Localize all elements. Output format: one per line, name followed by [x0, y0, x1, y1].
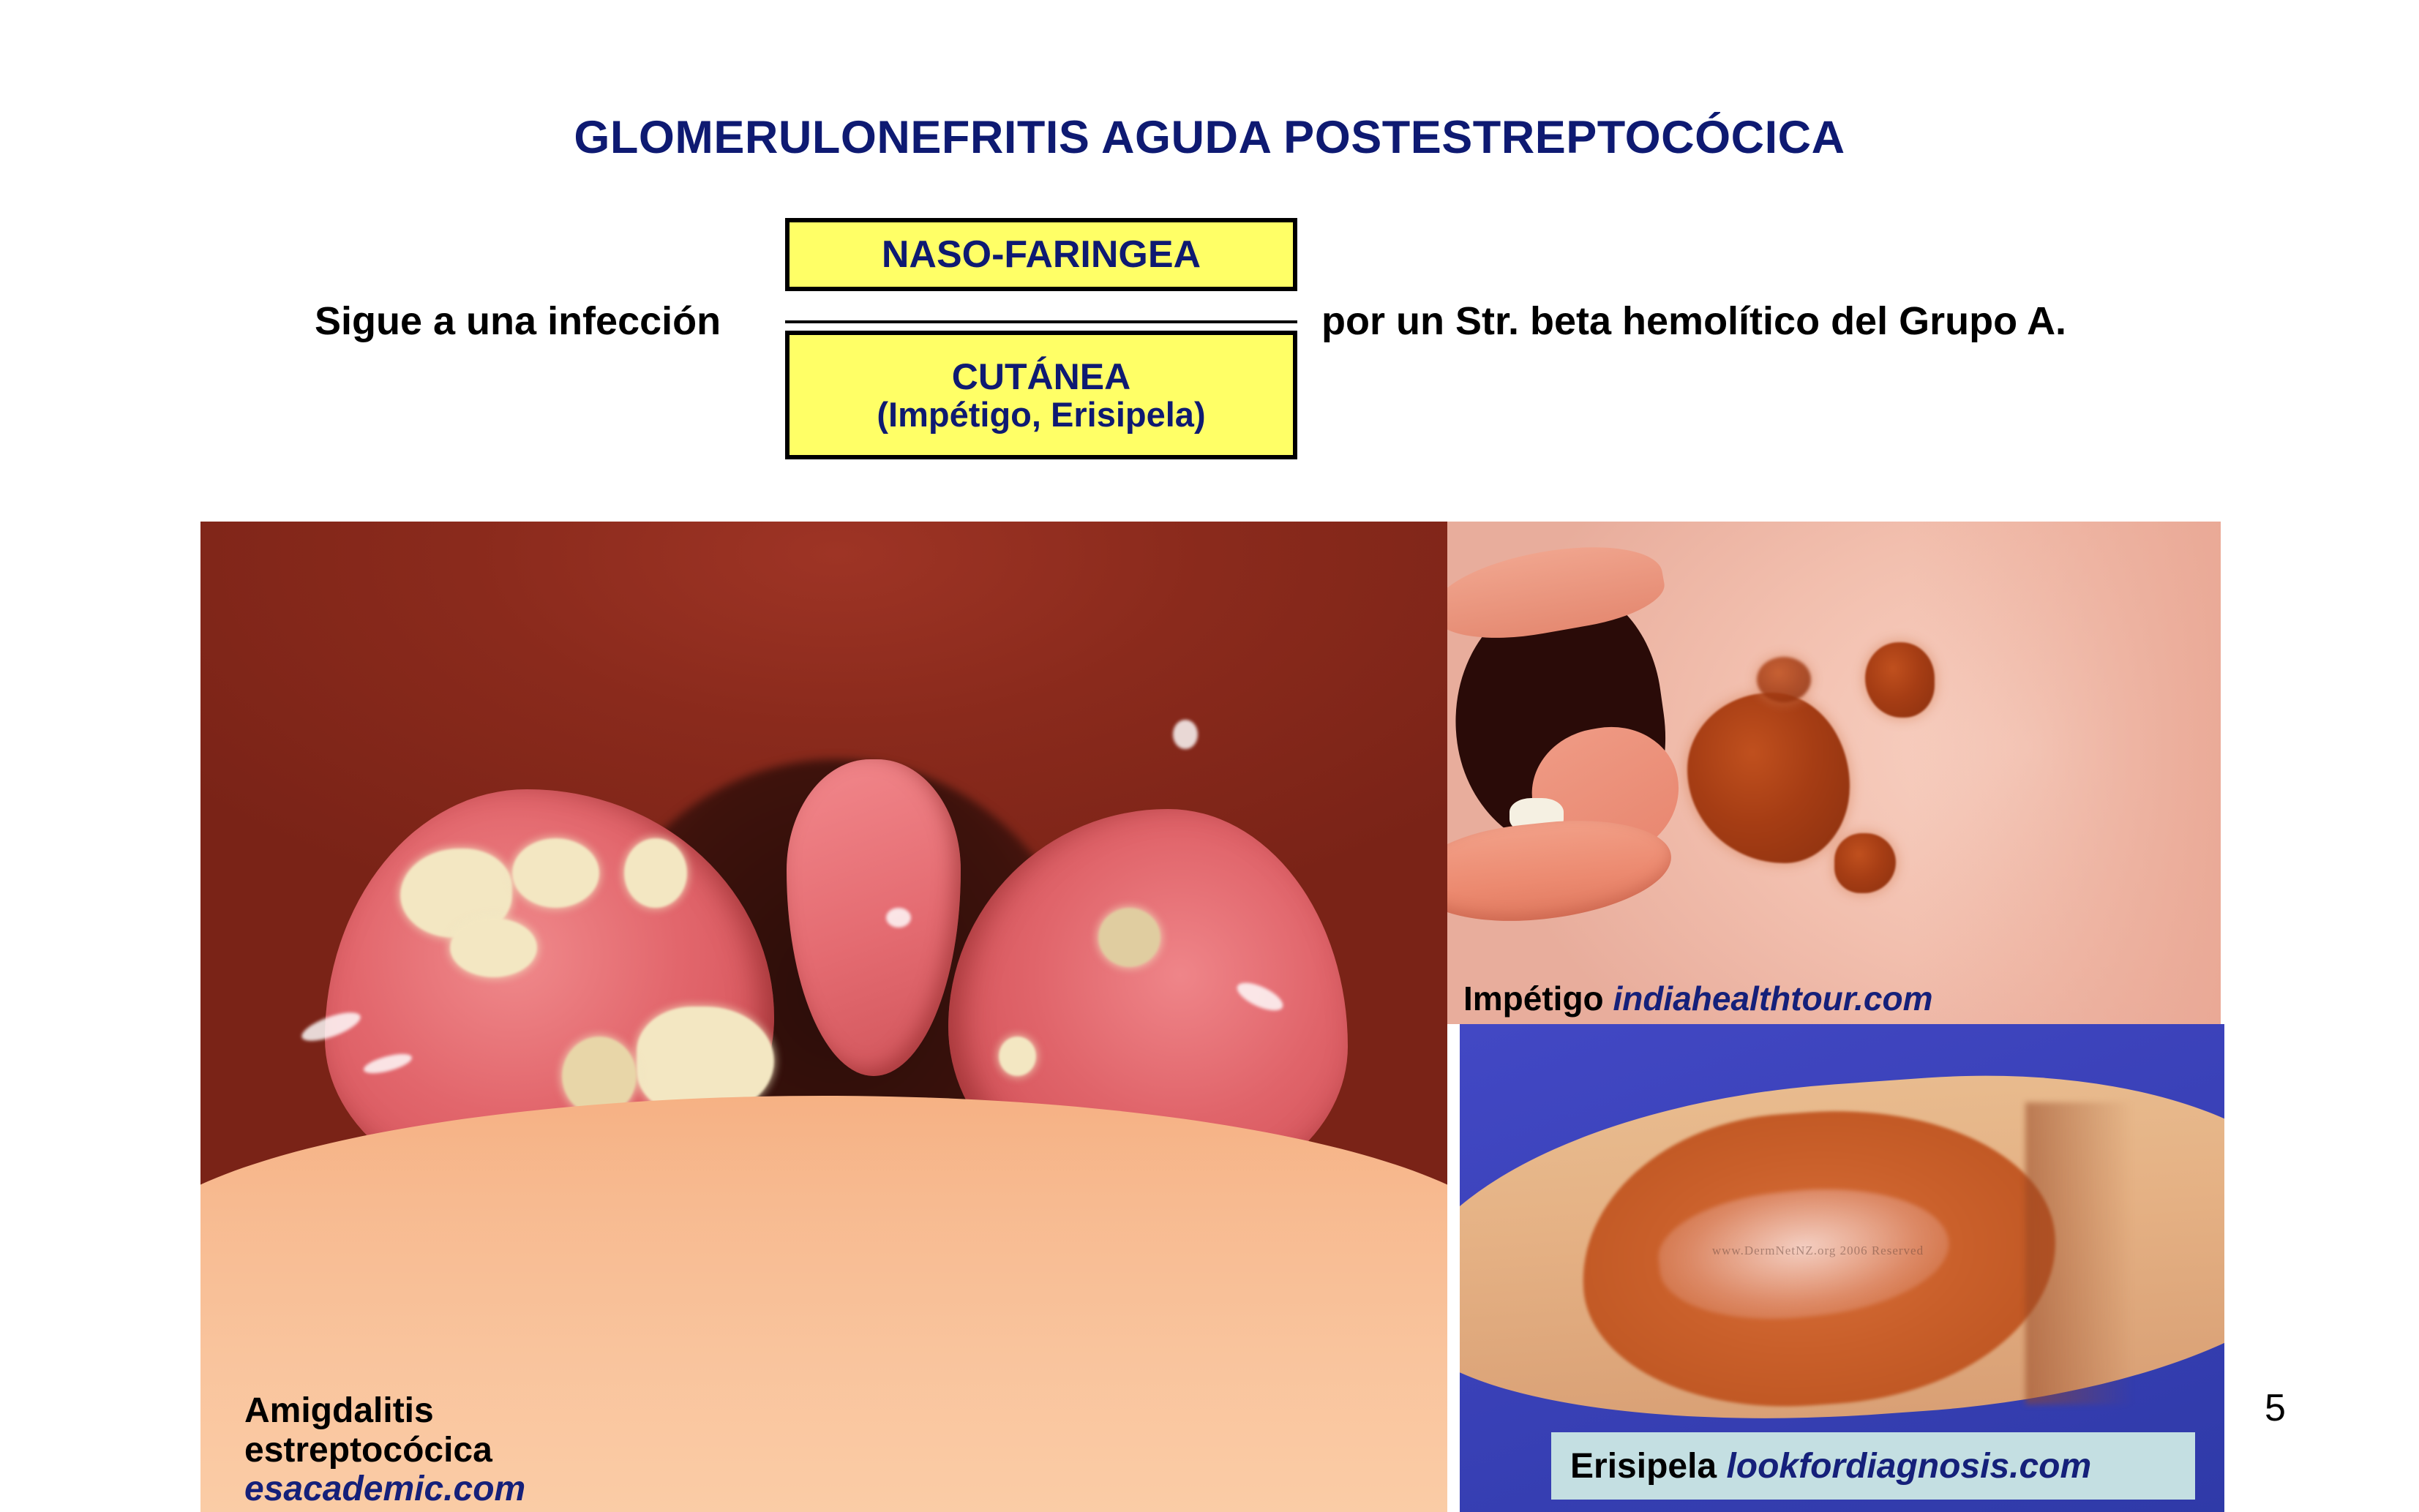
impetigo-crust-lesion	[1757, 657, 1811, 702]
caption-amigdalitis-source: esacademic.com	[244, 1470, 903, 1509]
sentence-lead-text: Sigue a una infección	[315, 298, 721, 344]
impetigo-crust-lesion	[1865, 642, 1935, 718]
bracket-connector-line	[785, 320, 1297, 323]
callout-box-cutanea: CUTÁNEA (Impétigo, Erisipela)	[785, 331, 1297, 459]
callout-box-nasofaringea: NASO-FARINGEA	[785, 218, 1297, 291]
caption-erisipela-label: Erisipela	[1570, 1446, 1717, 1486]
limb-edge-shading	[2025, 1102, 2132, 1405]
tonsil-exudate-patch	[1098, 908, 1160, 967]
caption-amigdalitis: Amigdalitis estreptocócica esacademic.co…	[244, 1391, 903, 1509]
slide-number: 5	[2265, 1386, 2286, 1430]
callout-box-nasofaringea-label: NASO-FARINGEA	[882, 234, 1201, 275]
photo-impetigo: Impétigo indiahealthtour.com	[1447, 522, 2221, 1024]
caption-erisipela-source: lookfordiagnosis.com	[1726, 1446, 2091, 1486]
page-title: GLOMERULONEFRITIS AGUDA POSTESTREPTOCÓCI…	[0, 111, 2419, 164]
photo-watermark: www.DermNetNZ.org 2006 Reserved	[1712, 1244, 1924, 1258]
caption-erisipela: Erisipela lookfordiagnosis.com	[1551, 1432, 2195, 1500]
tonsil-exudate-patch	[450, 918, 537, 977]
tonsil-exudate-patch	[512, 838, 599, 908]
tonsil-exudate-patch	[624, 838, 686, 908]
caption-impetigo-label: Impétigo	[1463, 979, 1613, 1018]
sentence-tail-text: por un Str. beta hemolítico del Grupo A.	[1321, 298, 2066, 344]
photo-amigdalitis-estreptococica: Amigdalitis estreptocócica esacademic.co…	[200, 522, 1447, 1512]
caption-impetigo-source: indiahealthtour.com	[1613, 979, 1932, 1018]
tonsil-exudate-patch	[999, 1037, 1036, 1076]
caption-amigdalitis-line1: Amigdalitis	[244, 1391, 903, 1431]
caption-amigdalitis-line2: estreptocócica	[244, 1431, 903, 1470]
caption-impetigo: Impétigo indiahealthtour.com	[1463, 979, 1933, 1018]
callout-box-cutanea-sublabel: (Impétigo, Erisipela)	[877, 396, 1205, 434]
cheek-shading	[1911, 522, 2221, 1024]
callout-box-cutanea-label: CUTÁNEA	[952, 357, 1130, 396]
